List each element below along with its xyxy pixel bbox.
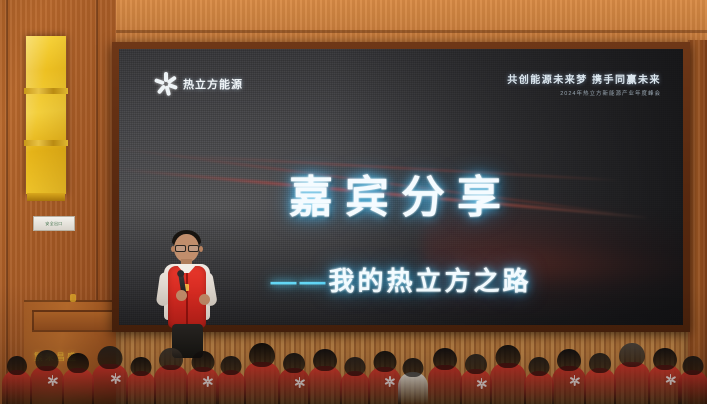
vest-starburst-logo-icon	[203, 377, 213, 385]
audience-member	[340, 352, 370, 404]
audience-member-vest	[614, 362, 650, 404]
audience-member-vest	[490, 363, 526, 404]
audience-member	[398, 353, 428, 404]
audience-member-head	[67, 353, 89, 373]
audience-member-head	[433, 348, 457, 370]
audience-member-vest	[154, 365, 188, 404]
audience-member-vest	[584, 368, 616, 404]
audience-member	[278, 348, 310, 404]
subtitle-dash: ——	[270, 266, 328, 296]
audience-member-head	[249, 343, 275, 367]
brand-name: 热立方能源	[183, 76, 243, 92]
audience-member-vest	[308, 366, 342, 404]
audience-member	[2, 351, 32, 404]
slide-title: 嘉宾分享	[119, 161, 683, 225]
banner-tail	[27, 193, 65, 201]
audience-member	[552, 344, 586, 404]
audience-member	[614, 338, 650, 404]
banner-sheen	[26, 36, 66, 194]
slogan-line-2: 2024年热立方新能源产业年度峰会	[507, 89, 661, 97]
audience-member-vest	[92, 364, 128, 404]
audience-member-head	[191, 351, 214, 372]
audience-member	[368, 346, 401, 404]
audience-member-vest	[62, 368, 94, 404]
audience-member-head	[496, 345, 521, 368]
audience-member-head	[529, 357, 550, 376]
exit-sign: 安全出口	[33, 216, 75, 231]
audience-member-head	[131, 357, 152, 376]
stage-scene: 安全出口 繁荣昌盛	[0, 0, 707, 404]
exit-sign-label: 安全出口	[45, 221, 62, 227]
audience-member-vest	[216, 370, 246, 404]
audience-member	[186, 346, 219, 404]
event-slogan: 共创能源未来梦 携手同赢未来 2024年热立方新能源产业年度峰会	[507, 71, 661, 97]
audience-member-head	[373, 351, 396, 372]
brand-lockup: 热立方能源	[155, 73, 243, 95]
vest-starburst-logo-icon	[385, 377, 395, 385]
audience-member	[648, 343, 682, 404]
vest-starburst-logo-icon	[295, 378, 305, 386]
audience-member-vest	[678, 370, 707, 404]
audience-member-head	[313, 349, 337, 371]
audience-member-vest	[244, 362, 280, 404]
presenter-hand-right	[199, 294, 210, 305]
audience-member-head	[589, 353, 611, 373]
audience-member-head	[221, 356, 242, 375]
audience-member-head	[403, 358, 424, 377]
audience-member	[62, 348, 94, 404]
audience-member	[126, 352, 156, 404]
audience-member-head	[283, 353, 305, 373]
audience-member-vest	[460, 369, 492, 404]
audience-member	[584, 348, 616, 404]
audience-member-vest	[368, 367, 401, 404]
audience-member-head	[98, 346, 123, 369]
audience-member	[678, 351, 707, 404]
presenter-hand-left	[176, 290, 187, 301]
audience-member	[30, 345, 64, 404]
audience-member	[216, 351, 246, 404]
subtitle-text: 我的热立方之路	[328, 266, 531, 296]
vest-starburst-logo-icon	[111, 374, 121, 382]
audience-member	[308, 344, 342, 404]
vest-starburst-logo-icon	[477, 379, 487, 387]
vest-starburst-logo-icon	[666, 375, 676, 383]
audience-member-head	[619, 343, 645, 367]
audience-member-head	[345, 357, 366, 376]
audience-member-vest	[30, 366, 64, 404]
audience-member-head	[36, 350, 59, 371]
audience-member-vest	[428, 365, 462, 404]
audience-member-vest	[648, 365, 682, 404]
audience-member-vest	[2, 370, 32, 404]
audience-member-vest	[552, 366, 586, 404]
glasses-icon	[175, 245, 198, 250]
audience-member	[92, 341, 128, 404]
audience-member-head	[465, 354, 487, 374]
starburst-logo-icon	[155, 73, 177, 95]
audience-member-head	[653, 348, 677, 370]
audience-member	[490, 340, 526, 404]
audience-member	[428, 343, 462, 404]
audience-member-head	[159, 348, 183, 370]
audience-member	[244, 338, 280, 404]
vest-starburst-logo-icon	[570, 376, 580, 384]
audience-member-vest	[186, 367, 219, 404]
audience-member	[524, 352, 554, 404]
audience-member-head	[7, 356, 27, 375]
audience-member-vest	[278, 368, 310, 404]
audience-member-head	[683, 356, 704, 375]
audience-member	[460, 349, 492, 404]
gold-hanging-banner	[26, 36, 66, 194]
vest-starburst-logo-icon	[48, 376, 58, 384]
door-knob-icon	[70, 294, 76, 302]
audience-rows	[0, 312, 707, 404]
audience-member-head	[557, 349, 581, 371]
audience-member	[154, 343, 188, 404]
slogan-line-1: 共创能源未来梦 携手同赢未来	[507, 71, 661, 86]
